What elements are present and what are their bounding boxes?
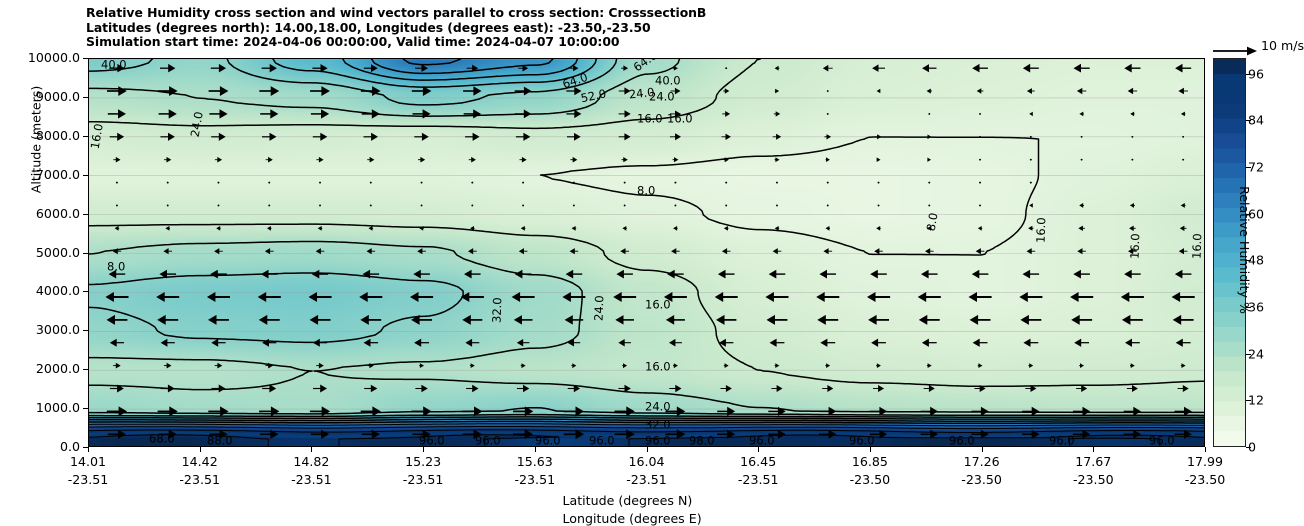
wind-vector-head: [1079, 203, 1083, 208]
wind-vector-head: [524, 87, 532, 96]
wind-vector-head: [371, 133, 378, 141]
y-axis-tick-label: 1000.0: [36, 400, 80, 415]
wind-vector-head: [107, 315, 116, 325]
colorbar-tick-mark: [1246, 447, 1251, 448]
wind-vector-head: [725, 111, 730, 117]
wind-vector-head: [1128, 88, 1133, 94]
wind-vector-head: [626, 429, 635, 439]
wind-vector-head: [515, 270, 523, 279]
x-axis-tick-label-latitude: 16.85: [852, 454, 888, 469]
x-axis-tick-mark: [758, 447, 759, 452]
wind-vector-head: [322, 406, 331, 416]
wind-vector-head: [1023, 64, 1030, 73]
wind-vector-head: [105, 292, 114, 302]
wind-vector: [1081, 136, 1083, 138]
wind-vector-head: [1124, 64, 1131, 73]
wind-vector-head: [369, 226, 373, 231]
title-line-1: Relative Humidity cross section and wind…: [86, 6, 1086, 21]
wind-vector-head: [115, 226, 119, 231]
contour-label: 24.0: [188, 110, 206, 138]
wind-vector-head: [573, 65, 578, 71]
wind-vector-head: [1023, 339, 1030, 347]
wind-vector-head: [1023, 270, 1031, 279]
wind-vector: [878, 182, 880, 184]
wind-vector-head: [1077, 88, 1082, 94]
wind-vector-head: [217, 363, 222, 369]
wind-vector: [827, 113, 829, 115]
wind-vector-head: [261, 270, 269, 279]
x-axis-tick-label-longitude: -23.51: [291, 472, 332, 487]
wind-vector: [928, 204, 930, 206]
wind-vector: [471, 182, 473, 184]
wind-vector: [979, 182, 981, 184]
contour-label: 32.0: [490, 297, 505, 323]
y-axis-tick-mark: [83, 136, 88, 137]
y-axis-tick-mark: [83, 291, 88, 292]
wind-vector: [1131, 136, 1133, 138]
wind-vector-head: [626, 406, 635, 416]
wind-vector-head: [675, 385, 681, 392]
wind-vector-head: [618, 339, 624, 347]
x-axis-tick-label-latitude: 17.26: [964, 454, 1000, 469]
contour-label: 24.0: [649, 90, 675, 104]
wind-vector-head: [321, 109, 329, 118]
wind-vector-head: [969, 292, 978, 302]
wind-vector-head: [623, 65, 628, 71]
wind-vector-head: [616, 270, 624, 279]
wind-vector-head: [1175, 270, 1183, 279]
wind-vector-head: [270, 109, 278, 118]
wind-vector-head: [523, 133, 530, 141]
wind-vector: [827, 204, 829, 206]
x-axis-tick-mark: [982, 447, 983, 452]
wind-vector: [370, 204, 372, 206]
wind-vector-head: [977, 88, 982, 94]
wind-vector-head: [625, 385, 631, 392]
wind-vector-head: [823, 65, 829, 72]
contour-label: 96.0: [645, 434, 671, 448]
wind-vector-head: [312, 270, 320, 279]
colorbar-tick-mark: [1246, 120, 1251, 121]
wind-vector-head: [168, 64, 175, 73]
wind-vector: [167, 204, 169, 206]
x-axis-tick-label-latitude: 14.82: [293, 454, 329, 469]
contour-label: 98.0: [689, 434, 715, 448]
wind-vector-head: [1019, 292, 1028, 302]
wind-vector: [979, 159, 981, 161]
wind-vector-head: [724, 226, 728, 231]
wind-vector-head: [674, 66, 678, 71]
wind-vector-head: [775, 363, 779, 368]
wind-vector-head: [363, 270, 371, 279]
wind-vector-head: [775, 89, 779, 94]
wind-vector-head: [1175, 64, 1182, 73]
wind-vector: [979, 113, 981, 115]
x-axis-tick-label-latitude: 16.45: [740, 454, 776, 469]
wind-vector-head: [1181, 203, 1185, 208]
wind-vector-head: [116, 363, 121, 369]
y-axis-tick-label: 4000.0: [36, 283, 80, 298]
wind-vector-head: [110, 339, 117, 347]
wind-vector-head: [574, 133, 581, 141]
wind-vector: [878, 204, 880, 206]
x-axis-tick-label-longitude: -23.51: [179, 472, 220, 487]
wind-vector: [979, 204, 981, 206]
wind-vector-head: [410, 292, 419, 302]
wind-vector-head: [423, 109, 431, 118]
wind-vector-head: [320, 133, 327, 141]
x-axis-label-longitude: Longitude (degrees E): [563, 511, 702, 526]
wind-vector-head: [524, 110, 532, 119]
wind-vector-head: [877, 157, 881, 162]
wind-vector-head: [1133, 407, 1141, 416]
wind-vector-head: [161, 339, 168, 347]
wind-vector: [827, 182, 829, 184]
x-axis-tick-label-longitude: -23.50: [961, 472, 1002, 487]
wind-vector-head: [216, 226, 220, 231]
wind-vector-head: [1071, 315, 1080, 325]
wind-vector-head: [767, 315, 776, 325]
wind-vector: [218, 204, 220, 206]
wind-vector-head: [1178, 88, 1184, 94]
wind-vector-head: [169, 406, 178, 416]
wind-vector-head: [319, 363, 324, 369]
wind-vector-head: [1183, 385, 1189, 392]
y-axis-tick-label: 9000.0: [36, 89, 80, 104]
title-line-3: Simulation start time: 2024-04-06 00:00:…: [86, 35, 1086, 50]
wind-vector-head: [927, 158, 931, 162]
x-axis-tick-label-longitude: -23.51: [514, 472, 555, 487]
wind-vector-head: [877, 89, 881, 94]
wind-vector-head: [615, 315, 623, 325]
wind-vector: [573, 182, 575, 184]
y-axis-tick-mark: [83, 175, 88, 176]
wind-vector: [218, 182, 220, 184]
wind-vector: [928, 113, 930, 115]
wind-vector-head: [826, 157, 830, 162]
wind-vector-head: [928, 135, 932, 140]
x-axis-tick-label-latitude: 15.23: [405, 454, 441, 469]
wind-vector: [776, 204, 778, 206]
x-axis-tick-mark: [88, 447, 89, 452]
wind-vector-head: [1131, 363, 1135, 368]
x-axis-tick-label-latitude: 15.63: [517, 454, 553, 469]
colorbar-tick-mark: [1246, 354, 1251, 355]
wind-vector-head: [776, 111, 781, 116]
x-axis-tick-mark: [1093, 447, 1094, 452]
wind-vector-head: [372, 406, 381, 416]
wind-vector-head: [927, 89, 931, 94]
y-axis-tick-label: 0.0: [60, 439, 80, 454]
wind-vector-head: [1027, 88, 1032, 94]
contour-label: 96.0: [1149, 434, 1175, 448]
wind-vector-head: [870, 270, 878, 279]
wind-vector-head: [876, 226, 880, 231]
wind-vector-head: [1020, 315, 1029, 325]
wind-vector-head: [919, 315, 928, 325]
wind-vector-head: [319, 157, 324, 163]
wind-vector-head: [220, 109, 228, 118]
wind-vector-head: [1133, 430, 1141, 439]
wind-vector-head: [1029, 112, 1033, 116]
wind-vector-head: [157, 315, 166, 325]
x-axis-tick-label-longitude: -23.51: [626, 472, 667, 487]
wind-vector-head: [208, 315, 217, 325]
wind-vector-head: [360, 315, 369, 325]
wind-vector: [370, 182, 372, 184]
x-axis-tick-mark: [423, 447, 424, 452]
wind-vector-head: [118, 109, 126, 118]
y-axis-tick-label: 8000.0: [36, 128, 80, 143]
wind-vector: [1030, 136, 1032, 138]
quiver-key-label: 10 m/s: [1261, 38, 1304, 53]
wind-vector-head: [422, 64, 429, 72]
wind-vector-head: [220, 86, 229, 96]
wind-vector: [471, 204, 473, 206]
x-axis-tick-mark: [1205, 447, 1206, 452]
wind-vector-head: [220, 406, 229, 416]
wind-vector-head: [514, 315, 522, 325]
x-axis-tick-label-latitude: 16.04: [628, 454, 664, 469]
x-axis-tick-label-latitude: 17.99: [1187, 454, 1223, 469]
wind-vector-head: [726, 385, 732, 392]
wind-vector-head: [269, 385, 276, 393]
contour-label: 96.0: [1049, 434, 1075, 448]
wind-vector: [522, 182, 524, 184]
wind-vector-head: [473, 109, 481, 118]
wind-vector-head: [769, 270, 777, 279]
contour-labels: 40.024.016.064.064.052.024.040.024.016.0…: [89, 59, 1204, 447]
y-axis-tick-mark: [83, 330, 88, 331]
wind-vector-head: [364, 339, 371, 347]
wind-vector-head: [878, 385, 884, 392]
wind-vector-head: [675, 88, 681, 95]
colorbar-tick-mark: [1246, 74, 1251, 75]
wind-vector-head: [523, 385, 529, 392]
x-axis-tick-label-longitude: -23.50: [1073, 472, 1114, 487]
figure-root: Relative Humidity cross section and wind…: [0, 0, 1304, 526]
wind-vector-head: [1029, 203, 1033, 207]
wind-vector-head: [1125, 339, 1132, 347]
x-axis-tick-mark: [311, 447, 312, 452]
wind-vector-head: [464, 270, 472, 279]
x-axis-tick-label-longitude: -23.50: [850, 472, 891, 487]
contour-label: 96.0: [749, 434, 775, 448]
wind-vector-head: [517, 339, 523, 347]
wind-vector-head: [970, 315, 979, 325]
wind-vector-head: [624, 133, 630, 140]
wind-vector-head: [725, 88, 730, 93]
wind-vector: [319, 182, 321, 184]
wind-vector-head: [922, 339, 929, 347]
contour-label: 24.0: [592, 295, 607, 321]
wind-vector-head: [465, 339, 472, 347]
y-axis-tick-label: 6000.0: [36, 206, 80, 221]
wind-vector-head: [318, 226, 322, 231]
wind-vector-head: [877, 134, 881, 139]
wind-vector-head: [674, 157, 678, 162]
wind-vector-head: [414, 339, 421, 347]
wind-vector-head: [309, 292, 318, 302]
wind-vector-head: [675, 133, 681, 140]
wind-vector-head: [321, 430, 329, 439]
wind-vector-head: [868, 315, 877, 325]
wind-vector-head: [1073, 270, 1081, 279]
wind-vector-head: [1081, 385, 1087, 392]
wind-vector-head: [765, 292, 774, 302]
wind-vector-head: [117, 133, 124, 141]
wind-vector-head: [1028, 226, 1032, 231]
wind-vector-head: [211, 339, 218, 347]
x-axis-tick-label-latitude: 14.01: [70, 454, 106, 469]
wind-vector-head: [819, 270, 827, 279]
wind-vector-head: [1129, 226, 1134, 232]
wind-vector-head: [413, 270, 421, 279]
wind-vector-head: [820, 339, 827, 347]
wind-vector-head: [219, 133, 226, 141]
wind-vector-head: [1122, 315, 1131, 325]
wind-vector-head: [1083, 407, 1091, 416]
wind-vector-head: [320, 385, 327, 393]
colorbar-tick-mark: [1246, 400, 1251, 401]
x-axis-tick-mark: [870, 447, 871, 452]
wind-vector-head: [471, 157, 476, 163]
x-axis-tick-mark: [535, 447, 536, 452]
wind-vector-head: [1180, 226, 1185, 232]
wind-vector: [979, 136, 981, 138]
wind-vector-head: [370, 157, 375, 163]
wind-vector-head: [165, 226, 169, 231]
wind-vector-head: [918, 292, 927, 302]
wind-vector: [573, 204, 575, 206]
wind-vector-head: [872, 64, 878, 72]
wind-vector: [421, 204, 423, 206]
wind-vector-head: [116, 157, 121, 163]
x-axis-tick-label-longitude: -23.51: [68, 472, 109, 487]
contour-label: 96.0: [589, 434, 615, 448]
wind-vector-head: [118, 86, 127, 96]
wind-vector-head: [1078, 226, 1083, 231]
wind-vector-head: [1181, 112, 1185, 117]
contour-label: 16.0: [1034, 217, 1049, 243]
wind-vector-head: [473, 133, 480, 141]
y-axis-tick-mark: [83, 369, 88, 370]
wind-vector-head: [928, 363, 932, 368]
contour-label: 16.0: [645, 298, 671, 312]
wind-vector-head: [978, 226, 982, 231]
wind-vector-head: [421, 385, 427, 392]
title-line-2: Latitudes (degrees north): 14.00,18.00, …: [86, 21, 1086, 36]
wind-vector-head: [420, 363, 424, 368]
y-axis-tick-mark: [83, 408, 88, 409]
wind-vector-head: [359, 292, 368, 302]
wind-vector-head: [168, 385, 175, 393]
y-axis-tick-label: 5000.0: [36, 245, 80, 260]
contour-label: 64.0: [631, 59, 660, 74]
wind-vector-head: [669, 339, 675, 347]
wind-vector-head: [422, 133, 429, 141]
wind-vector-head: [473, 86, 481, 96]
y-axis-tick-mark: [83, 214, 88, 215]
wind-vector-head: [827, 385, 833, 392]
wind-vector-head: [1176, 339, 1183, 347]
wind-vector: [116, 182, 118, 184]
wind-vector-head: [267, 226, 271, 231]
y-axis-tick-mark: [83, 253, 88, 254]
wind-vector-head: [572, 226, 576, 231]
wind-vector-head: [217, 157, 222, 163]
wind-vector-head: [271, 406, 280, 416]
wind-vector: [268, 204, 270, 206]
wind-vector-head: [972, 64, 979, 73]
wind-vector-head: [461, 292, 470, 302]
contour-label: 40.0: [101, 59, 127, 72]
contour-label: 8.0: [924, 212, 941, 232]
wind-vector-head: [207, 292, 216, 302]
wind-vector-head: [673, 226, 677, 231]
wind-vector: [928, 182, 930, 184]
wind-vector-head: [258, 292, 267, 302]
contour-label: 96.0: [535, 434, 561, 448]
wind-vector-head: [622, 226, 626, 231]
x-axis-tick-label-longitude: -23.50: [1185, 472, 1226, 487]
wind-arrow-icon: [1213, 46, 1257, 56]
wind-vector-head: [1130, 112, 1134, 117]
wind-vector-head: [574, 110, 581, 118]
wind-vector-head: [674, 363, 678, 368]
wind-vector-head: [472, 385, 478, 392]
wind-vector-head: [270, 133, 277, 141]
wind-vector-head: [829, 430, 837, 439]
wind-vector-head: [1172, 292, 1181, 302]
wind-vector-head: [1121, 292, 1130, 302]
colorbar-label: Relative Humidity %: [1237, 150, 1252, 350]
wind-vector-head: [270, 64, 277, 73]
wind-vector-head: [666, 315, 674, 325]
wind-vector: [624, 182, 626, 184]
wind-vector-head: [726, 134, 731, 140]
wind-vector: [1182, 136, 1184, 138]
wind-vector-head: [169, 109, 177, 118]
wind-vector: [1081, 159, 1083, 161]
contour-label: 96.0: [849, 434, 875, 448]
wind-vector-head: [1074, 64, 1082, 73]
x-axis-tick-label-latitude: 14.42: [182, 454, 218, 469]
wind-vector: [725, 67, 727, 69]
wind-vector-head: [817, 315, 826, 325]
contour-label: 16.0: [89, 122, 106, 150]
contour-label: 52.0: [579, 86, 607, 105]
wind-vector-head: [625, 110, 631, 117]
wind-vector-head: [778, 430, 786, 439]
wind-vector-head: [262, 339, 269, 347]
wind-vector-head: [371, 64, 378, 72]
wind-vector-head: [310, 315, 319, 325]
wind-vector-head: [816, 292, 825, 302]
contour-label: 96.0: [949, 434, 975, 448]
wind-vector-head: [562, 292, 571, 302]
figure-title-block: Relative Humidity cross section and wind…: [86, 6, 1086, 50]
y-axis-tick-mark: [83, 97, 88, 98]
y-axis-tick-label: 10000.0: [28, 50, 80, 65]
y-axis-tick-mark: [83, 58, 88, 59]
wind-vector-head: [777, 385, 783, 392]
contour-label: 16.0: [1128, 233, 1143, 259]
wind-vector-head: [566, 270, 574, 279]
wind-vector-head: [826, 363, 830, 368]
wind-vector-head: [168, 133, 175, 141]
wind-vector-head: [522, 363, 526, 368]
